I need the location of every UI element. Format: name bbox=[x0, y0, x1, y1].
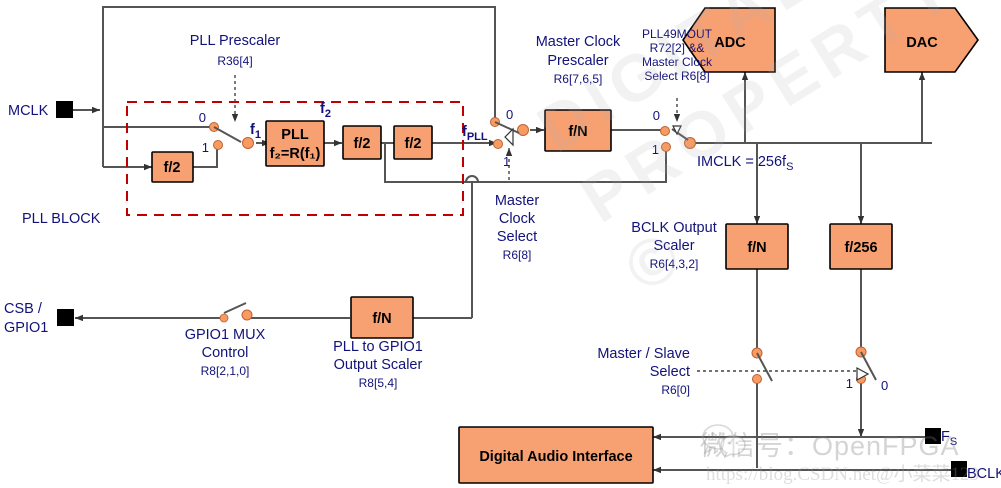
mcs-common[interactable] bbox=[518, 125, 529, 136]
label-div2-a: f/2 bbox=[354, 136, 371, 152]
label-signal-f2: f2 bbox=[320, 101, 331, 120]
wire-mclk-top-loop bbox=[103, 7, 495, 120]
label-pll-to-gpio1-reg: R8[5,4] bbox=[359, 376, 398, 390]
label-master-clock-prescaler-l2: Prescaler bbox=[547, 53, 608, 69]
sel-blade[interactable] bbox=[672, 129, 688, 140]
mcs-blade[interactable] bbox=[495, 122, 519, 133]
switch-terminal-1[interactable] bbox=[214, 141, 223, 150]
label-master-slave-l1: Master / Slave bbox=[597, 346, 690, 362]
clock-diagram-root: DIGITAL PROPERTY © bbox=[0, 0, 1001, 488]
label-pll-prescaler-reg: R36[4] bbox=[217, 54, 252, 68]
label-pll-gpio-scaler-block: f/N bbox=[372, 311, 391, 327]
label-pll49mout-l4: Select R6[8] bbox=[644, 69, 709, 83]
gpio-mux-terminal[interactable] bbox=[220, 314, 228, 322]
switch-common[interactable] bbox=[243, 138, 254, 149]
label-master-slave-reg: R6[0] bbox=[661, 383, 690, 397]
label-pin-bclk: BCLK bbox=[967, 466, 1001, 482]
label-pll49mout-l3: Master Clock bbox=[642, 55, 713, 69]
label-master-slave-l2: Select bbox=[650, 364, 690, 380]
label-imclk: IMCLK = 256fS bbox=[697, 154, 793, 173]
sel-terminal-1[interactable] bbox=[662, 143, 671, 152]
label-sw-mcs-0: 0 bbox=[506, 107, 513, 122]
mcs-terminal-1[interactable] bbox=[494, 140, 503, 149]
label-bclk-output-scaler-l2: Scaler bbox=[653, 238, 694, 254]
switch-pll-prescaler[interactable] bbox=[210, 123, 254, 150]
pad-mclk[interactable] bbox=[56, 101, 73, 118]
label-digital-audio-interface: Digital Audio Interface bbox=[479, 449, 632, 465]
gpio-mux-blade[interactable] bbox=[224, 303, 246, 313]
mcs-actuator-triangle bbox=[505, 129, 513, 145]
label-div2-prescaler: f/2 bbox=[164, 160, 181, 176]
label-pll-prescaler: PLL Prescaler bbox=[190, 33, 281, 49]
label-pin-csb-line2: GPIO1 bbox=[4, 320, 48, 336]
switch-master-slave-fs[interactable] bbox=[856, 347, 876, 384]
ms-bclk-terminal-bottom[interactable] bbox=[753, 375, 762, 384]
label-pll49mout-l1: PLL49MOUT bbox=[642, 27, 713, 41]
switch-gpio1-mux[interactable] bbox=[220, 303, 252, 322]
label-pll-to-gpio1-l2: Output Scaler bbox=[334, 357, 423, 373]
label-bclk-output-scaler-reg: R6[4,3,2] bbox=[650, 257, 699, 271]
label-pll-to-gpio1-l1: PLL to GPIO1 bbox=[333, 339, 423, 355]
sel-terminal-0[interactable] bbox=[661, 127, 670, 136]
switch-master-clock-select[interactable] bbox=[491, 118, 529, 149]
label-gpio1-mux-l2: Control bbox=[202, 345, 249, 361]
label-sw-ms-0: 0 bbox=[881, 378, 888, 393]
switch-master-slave-bclk[interactable] bbox=[752, 348, 772, 384]
label-master-clock-prescaler-block: f/N bbox=[568, 124, 587, 140]
label-adc: ADC bbox=[714, 35, 746, 51]
label-gpio1-mux-l1: GPIO1 MUX bbox=[185, 327, 266, 343]
label-master-clock-select-reg: R6[8] bbox=[503, 248, 532, 262]
label-dac: DAC bbox=[906, 35, 938, 51]
label-pll-title: PLL bbox=[281, 127, 309, 143]
label-master-clock-select-l2: Clock bbox=[499, 211, 536, 227]
pad-fs[interactable] bbox=[925, 428, 941, 444]
label-signal-fpll: fPLL bbox=[462, 124, 488, 143]
diagram-svg: f/2 PLL f₂=R(f₁) f/2 f/2 f/N f/N f/N f/2… bbox=[0, 0, 1001, 488]
label-sw-ms-1: 1 bbox=[846, 376, 853, 391]
pad-bclk[interactable] bbox=[951, 461, 967, 477]
label-pin-csb-line1: CSB / bbox=[4, 301, 43, 317]
label-pll49mout-l2: R72[2] && bbox=[650, 41, 705, 55]
label-div2-b: f/2 bbox=[405, 136, 422, 152]
label-bclk-output-scaler-l1: BCLK Output bbox=[631, 220, 716, 236]
label-sw-pre-1: 1 bbox=[202, 140, 209, 155]
label-master-clock-select-l1: Master bbox=[495, 193, 539, 209]
label-sw-pre-0: 0 bbox=[199, 110, 206, 125]
label-pin-mclk: MCLK bbox=[8, 103, 49, 119]
label-sw-sel-1: 1 bbox=[652, 142, 659, 157]
label-master-clock-prescaler-l1: Master Clock bbox=[536, 34, 621, 50]
label-gpio1-mux-reg: R8[2,1,0] bbox=[201, 364, 250, 378]
pad-csb-gpio1[interactable] bbox=[57, 309, 74, 326]
label-master-clock-prescaler-reg: R6[7,6,5] bbox=[554, 72, 603, 86]
label-pll-block: PLL BLOCK bbox=[22, 211, 101, 227]
label-master-clock-select-l3: Select bbox=[497, 229, 537, 245]
switch-pll49mout-select[interactable] bbox=[661, 126, 696, 152]
label-pin-fs: FS bbox=[941, 429, 957, 448]
label-sw-sel-0: 0 bbox=[653, 108, 660, 123]
label-sw-mcs-1: 1 bbox=[503, 154, 510, 169]
label-signal-f1: f1 bbox=[250, 122, 261, 141]
switch-blade[interactable] bbox=[214, 127, 241, 142]
gpio-mux-common[interactable] bbox=[242, 310, 252, 320]
label-pll-equation: f₂=R(f₁) bbox=[270, 146, 321, 162]
label-bclk-scaler-block: f/N bbox=[747, 240, 766, 256]
label-fs-scaler-block: f/256 bbox=[844, 240, 877, 256]
